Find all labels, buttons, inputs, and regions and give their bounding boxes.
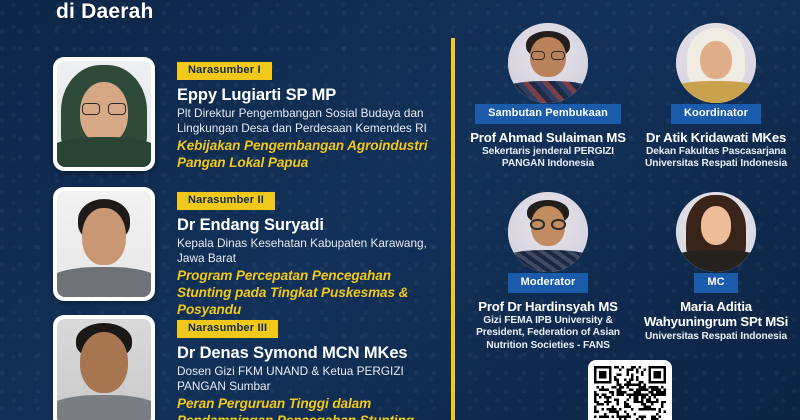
speaker-text-block: Narasumber I Eppy Lugiarti SP MP Plt Dir… xyxy=(177,57,450,171)
role-description: Sekertaris jenderal PERGIZI PANGAN Indon… xyxy=(468,146,628,170)
speaker-photo-frame xyxy=(53,315,155,420)
role-name: Prof Ahmad Sulaiman MS xyxy=(468,130,628,146)
role-description: Universitas Respati Indonesia xyxy=(636,331,796,343)
qr-code[interactable] xyxy=(588,360,672,420)
role-description: Gizi FEMA IPB University & President, Fe… xyxy=(468,315,628,352)
role-badge: MC xyxy=(694,273,737,293)
speaker-name: Dr Endang Suryadi xyxy=(177,216,450,236)
role-description: Dekan Fakultas Pascasarjana Universitas … xyxy=(636,146,796,170)
speaker-topic: Kebijakan Pengembangan Agroindustri Pang… xyxy=(177,137,429,171)
qr-code-canvas xyxy=(594,366,666,420)
speaker-photo-frame xyxy=(53,57,155,171)
role-card-mc: MC Maria Aditia Wahyuningrum SPt MSi Uni… xyxy=(636,192,796,343)
speaker-card-3: Narasumber III Dr Denas Symond MCN MKes … xyxy=(0,315,450,420)
speaker-role: Dosen Gizi FKM UNAND & Ketua PERGIZI PAN… xyxy=(177,364,429,393)
speaker-photo-frame xyxy=(53,187,155,301)
speaker-card-1: Narasumber I Eppy Lugiarti SP MP Plt Dir… xyxy=(0,57,450,171)
portrait-hardinsyah xyxy=(508,192,588,272)
portrait-maria-aditia xyxy=(676,192,756,272)
role-card-moderator: Moderator Prof Dr Hardinsyah MS Gizi FEM… xyxy=(468,192,628,352)
role-badge: Moderator xyxy=(508,273,589,293)
speaker-text-block: Narasumber II Dr Endang Suryadi Kepala D… xyxy=(177,187,450,319)
portrait-ahmad-sulaiman xyxy=(508,23,588,103)
webinar-poster: di Daerah Narasumber I Eppy Lugiarti SP … xyxy=(0,0,800,420)
portrait-eppy-lugiarti xyxy=(57,61,151,167)
role-badge: Sambutan Pembukaan xyxy=(475,104,621,124)
role-name: Prof Dr Hardinsyah MS xyxy=(468,299,628,315)
speaker-name: Eppy Lugiarti SP MP xyxy=(177,86,450,106)
speaker-topic: Program Percepatan Pencegahan Stunting p… xyxy=(177,267,429,318)
speaker-name: Dr Denas Symond MCN MKes xyxy=(177,344,450,364)
speaker-badge: Narasumber II xyxy=(177,192,275,210)
speaker-badge: Narasumber III xyxy=(177,320,278,338)
speaker-topic: Peran Perguruan Tinggi dalam Pendampinga… xyxy=(177,395,429,420)
role-name: Dr Atik Kridawati MKes xyxy=(636,130,796,146)
role-name: Maria Aditia Wahyuningrum SPt MSi xyxy=(636,299,796,330)
portrait-endang-suryadi xyxy=(57,191,151,297)
speaker-role: Plt Direktur Pengembangan Sosial Budaya … xyxy=(177,106,429,135)
role-card-koordinator: Koordinator Dr Atik Kridawati MKes Dekan… xyxy=(636,23,796,171)
portrait-denas-symond xyxy=(57,319,151,420)
portrait-atik-kridawati xyxy=(676,23,756,103)
role-badge: Koordinator xyxy=(671,104,761,124)
speaker-text-block: Narasumber III Dr Denas Symond MCN MKes … xyxy=(177,315,450,420)
role-card-sambutan-pembukaan: Sambutan Pembukaan Prof Ahmad Sulaiman M… xyxy=(468,23,628,171)
vertical-divider xyxy=(451,38,455,420)
speaker-card-2: Narasumber II Dr Endang Suryadi Kepala D… xyxy=(0,187,450,319)
speaker-badge: Narasumber I xyxy=(177,62,272,80)
speaker-role: Kepala Dinas Kesehatan Kabupaten Karawan… xyxy=(177,236,429,265)
title-band: di Daerah xyxy=(0,0,450,34)
page-title: di Daerah xyxy=(56,0,154,24)
